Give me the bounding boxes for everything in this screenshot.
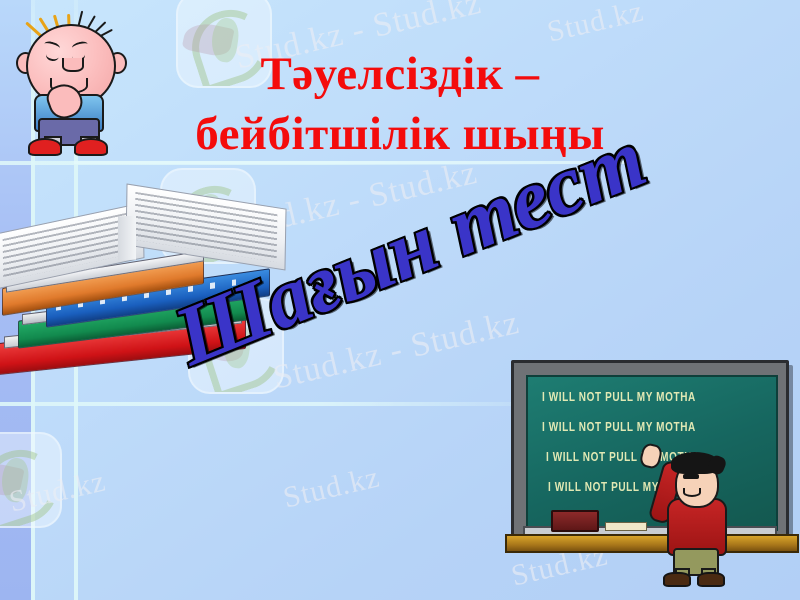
writing-boy-shoe-right: [697, 572, 725, 587]
boy-nose: [62, 58, 84, 72]
boy-shoe-right: [74, 138, 108, 156]
thinking-boy-icon: [8, 6, 138, 146]
boy-shoe-left: [28, 138, 62, 156]
writing-boy-icon: [653, 436, 735, 582]
presentation-slide: Stud.kz - Stud.kz Stud.kz - Stud.kz Stud…: [0, 0, 800, 600]
eraser-icon: [551, 510, 599, 532]
writing-boy-hair: [671, 452, 719, 474]
chalk-icon: [605, 522, 647, 531]
open-book-spine: [118, 216, 136, 261]
chalkboard-line: I WILL NOT PULL MY MOTHA: [542, 391, 696, 405]
watermark-text: Stud.kz: [544, 0, 647, 50]
watermark-text: Stud.kz: [280, 460, 383, 515]
writing-boy-eyes: [683, 474, 699, 479]
writing-boy-mouth: [683, 488, 701, 497]
chalkboard-ledge: [505, 534, 799, 553]
chalkboard-line: I WILL NOT PULL MY MOTHA: [542, 421, 696, 435]
title-line-1: Тәуелсіздік –: [260, 48, 539, 100]
writing-boy-shoe-left: [663, 572, 691, 587]
chalkboard-scene: I WILL NOT PULL MY MOTHA I WILL NOT PULL…: [505, 352, 797, 584]
open-book-text-lines: [135, 192, 278, 262]
